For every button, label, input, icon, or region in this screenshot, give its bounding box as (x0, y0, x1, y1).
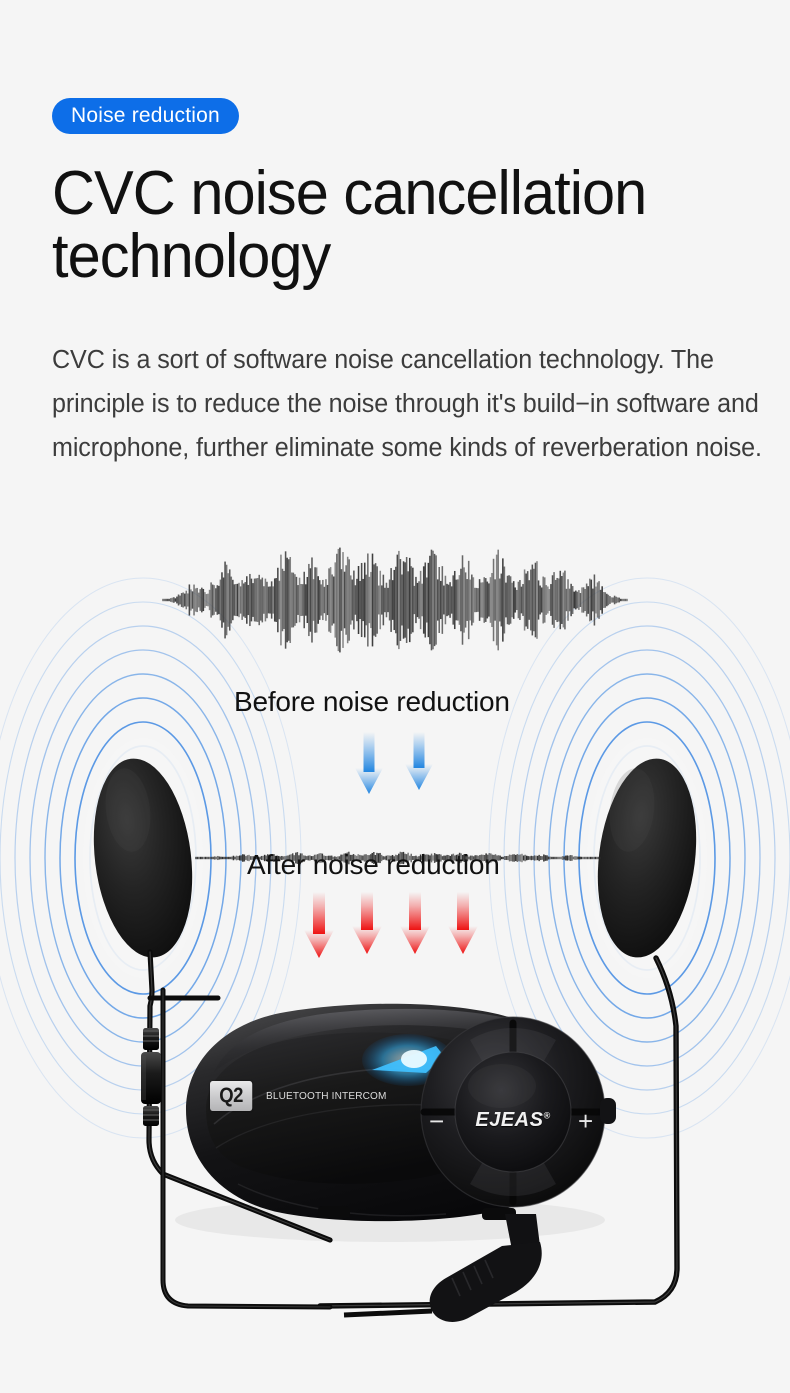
brand-text: EJEAS (475, 1109, 543, 1131)
page-title: CVC noise cancellation technology (52, 162, 724, 288)
arrows-blue (355, 732, 433, 794)
intercom-device (175, 1004, 616, 1322)
device-subtitle: BLUETOOTH INTERCOM (266, 1090, 387, 1102)
waveform-before (163, 548, 627, 653)
description-paragraph: CVC is a sort of software noise cancella… (52, 338, 771, 470)
device-model-badge: Q2 (210, 1081, 252, 1111)
device-brand-logo: EJEAS® (473, 1109, 553, 1132)
volume-down-button[interactable]: − (429, 1108, 444, 1134)
noise-reduction-diagram (0, 520, 790, 1393)
section-badge: Noise reduction (52, 98, 239, 134)
arrows-red (304, 892, 478, 958)
label-after-noise-reduction: After noise reduction (247, 849, 500, 881)
brand-trademark-icon: ® (543, 1110, 550, 1120)
volume-up-button[interactable]: + (578, 1108, 593, 1134)
product-infographic: Noise reduction CVC noise cancellation t… (0, 0, 790, 1393)
label-before-noise-reduction: Before noise reduction (234, 686, 510, 718)
cable-inline-plug (141, 1028, 161, 1126)
